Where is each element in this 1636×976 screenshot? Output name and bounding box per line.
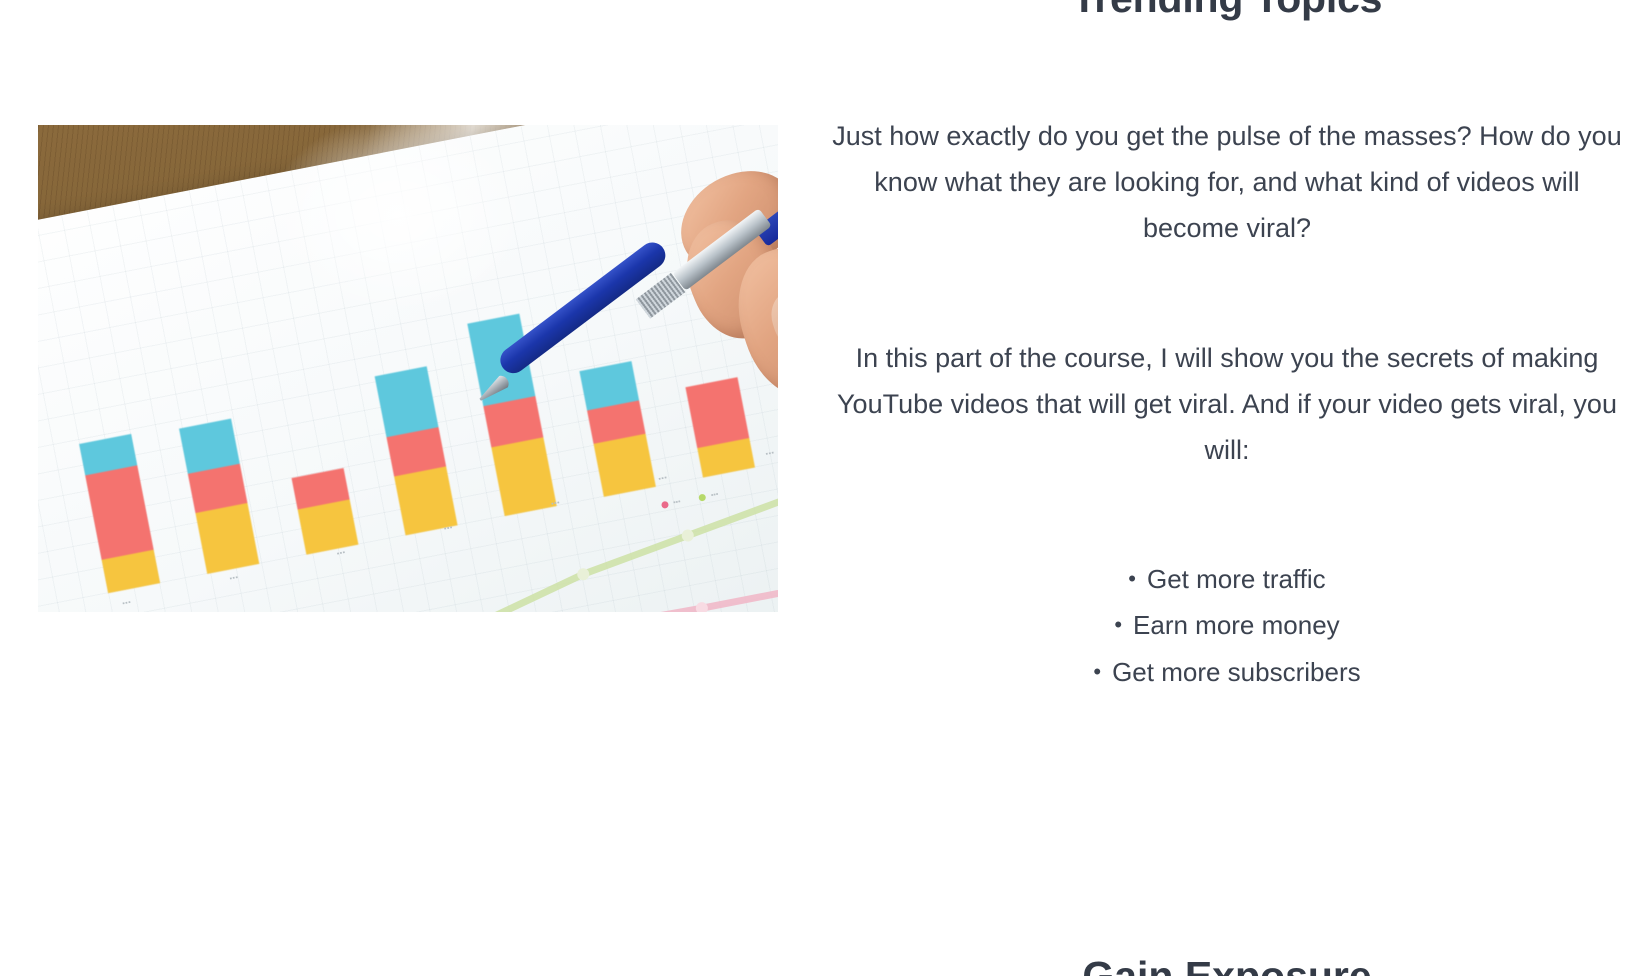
text-column: Trending Topics Just how exactly do you … (818, 0, 1636, 976)
photo-column: ▪▪▪▪ ▪▪▪ ▪▪▪ ▪▪▪ ▪▪▪ ▪▪▪ ▪▪▪ ▪▪▪ ▪▪▪ ▪▪▪… (0, 0, 818, 976)
list-item: Get more traffic (818, 556, 1636, 602)
list-item: Get more subscribers (818, 649, 1636, 695)
course-description-paragraph: In this part of the course, I will show … (818, 336, 1636, 474)
page-title: Trending Topics (818, 0, 1636, 23)
page-root: ▪▪▪▪ ▪▪▪ ▪▪▪ ▪▪▪ ▪▪▪ ▪▪▪ ▪▪▪ ▪▪▪ ▪▪▪ ▪▪▪… (0, 0, 1636, 976)
hand-with-pen (493, 245, 778, 515)
next-section-title: Gain Exposure (818, 952, 1636, 976)
benefits-list: Get more traffic Earn more money Get mor… (818, 556, 1636, 695)
intro-paragraph: Just how exactly do you get the pulse of… (818, 114, 1636, 252)
content-image: ▪▪▪▪ ▪▪▪ ▪▪▪ ▪▪▪ ▪▪▪ ▪▪▪ ▪▪▪ ▪▪▪ ▪▪▪ ▪▪▪… (38, 125, 778, 612)
list-item: Earn more money (818, 602, 1636, 648)
